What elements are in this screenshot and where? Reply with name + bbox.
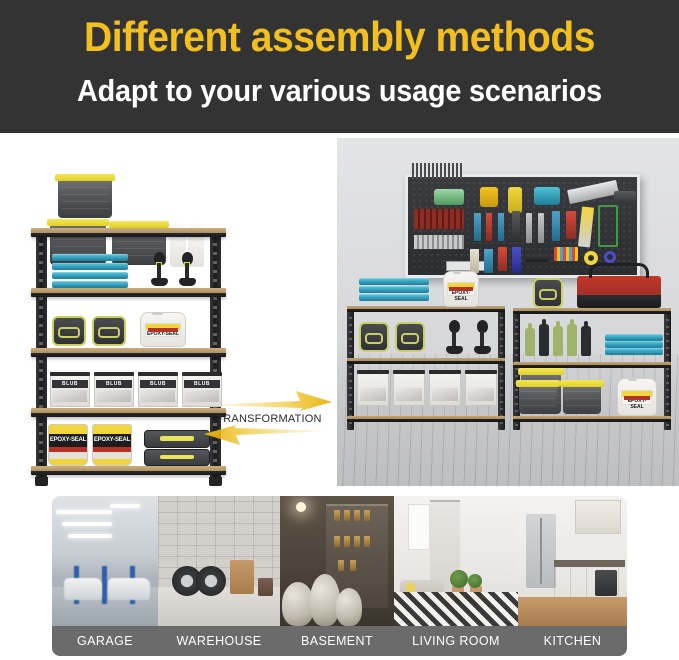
scenario-label-warehouse: WAREHOUSE [158, 634, 280, 648]
blue-tray [359, 278, 429, 285]
scenario-photos [52, 496, 627, 626]
epoxy-jug: EPOXY-SEAL [617, 378, 657, 416]
header-banner: Different assembly methods Adapt to your… [0, 0, 679, 133]
blue-tray [605, 341, 663, 348]
rack-shelf [31, 348, 226, 357]
tool-bag [577, 276, 661, 308]
rack-shelf [31, 228, 226, 237]
blue-tray-stack [359, 278, 429, 306]
bench-shelf [347, 416, 505, 422]
glue-gun [508, 187, 522, 213]
tool-caddy [359, 322, 389, 352]
blue-tray [52, 281, 128, 288]
blue-tray [359, 294, 429, 301]
paint-can [465, 372, 497, 406]
blue-tray-stack [52, 254, 128, 288]
clamp-tool [614, 191, 636, 203]
wrench [538, 213, 544, 243]
paint-can: BLUB [50, 374, 90, 407]
hanging-tool [176, 252, 198, 288]
tool-caddy [395, 322, 425, 352]
tool-bag-handle [589, 263, 650, 278]
jug-label: EPOXY-SEAL [145, 323, 182, 337]
wrench-row [414, 235, 464, 249]
bench-shelf [513, 308, 671, 314]
arrow-left-icon [204, 425, 332, 447]
socket-set-row [414, 209, 464, 229]
epoxy-bucket: EPOXY-SEAL [48, 424, 88, 466]
scenario-photo-living-room [394, 496, 518, 626]
blue-tray [605, 334, 663, 341]
can-label: BLUB [96, 380, 132, 388]
blue-tray [52, 254, 128, 261]
level-tool [526, 255, 548, 262]
blue-tray [52, 263, 128, 270]
bucket-brand: EPOXY-SEAL [49, 434, 87, 447]
utility-tool [512, 247, 521, 273]
rack-shelf [31, 408, 226, 417]
bench-shelf [347, 358, 505, 364]
pliers [474, 213, 481, 241]
page-subtitle: Adapt to your various usage scenarios [24, 72, 655, 110]
hacksaw [598, 205, 618, 247]
bench-post [347, 306, 354, 430]
right-product-image: EPOXY-SEAL [337, 138, 679, 486]
tape-roll [604, 251, 616, 263]
can-label: BLUB [140, 380, 176, 388]
screwdriver [486, 213, 492, 241]
epoxy-jug: EPOXY-SEAL [140, 312, 186, 347]
tool-caddy [533, 278, 563, 308]
paint-can [429, 372, 461, 406]
page-title: Different assembly methods [24, 13, 655, 61]
putty-knife [498, 247, 507, 271]
comparison-section: EPOXY-SEAL BLUB BLUB BLUB BLUB EPOXY-SEA… [0, 133, 679, 488]
rack-shelf [31, 288, 226, 297]
tool-caddy [92, 316, 126, 346]
arrow-right-icon [204, 389, 332, 411]
rack-foot [209, 477, 222, 486]
paint-brush [470, 249, 479, 273]
tool-caddy [52, 316, 86, 346]
power-drill [534, 187, 560, 205]
scenario-photo-warehouse [158, 496, 280, 626]
wrench [526, 213, 532, 243]
transformation-label: TRANSFORMATION [204, 413, 334, 425]
rack-foot [35, 477, 48, 486]
bench-shelf [347, 306, 505, 312]
hanging-tool [443, 320, 465, 354]
storage-tote [519, 386, 557, 414]
spray-bottle [539, 324, 549, 356]
jug-label: EPOXY-SEAL [447, 282, 476, 296]
can-label: BLUB [52, 380, 88, 388]
parts-organizer [446, 261, 488, 271]
paint-can [357, 372, 389, 406]
pruning-shears [566, 211, 576, 239]
scenario-label-basement: BASEMENT [280, 634, 394, 648]
bench-post [498, 306, 505, 430]
workbench-right: EPOXY-SEAL [513, 308, 671, 430]
cable-tie-set [554, 247, 578, 261]
scenario-photo-garage [52, 496, 158, 626]
scenario-label-bar: GARAGE WAREHOUSE BASEMENT LIVING ROOM KI… [52, 626, 627, 656]
paint-brush [484, 249, 493, 273]
hanging-tool [148, 252, 170, 288]
hanging-tool [471, 320, 493, 354]
blue-tray-stack [605, 334, 663, 356]
tool-box [144, 430, 210, 448]
storage-tote [58, 180, 112, 218]
spray-bottle [553, 326, 563, 356]
jug-brand: EPOXY-SEAL [146, 331, 181, 337]
blue-tray [605, 348, 663, 355]
spray-bottle [567, 324, 577, 356]
scenario-label-living-room: LIVING ROOM [394, 634, 518, 648]
scenario-label-kitchen: KITCHEN [518, 634, 627, 648]
garden-fork [552, 211, 560, 241]
screwdriver [498, 213, 504, 241]
blue-tray [52, 272, 128, 279]
scenario-strip: GARAGE WAREHOUSE BASEMENT LIVING ROOM KI… [52, 496, 627, 656]
scenario-photo-kitchen [518, 496, 627, 626]
hammer [512, 211, 520, 241]
scenario-label-garage: GARAGE [52, 634, 158, 648]
blue-tray [359, 286, 429, 293]
power-drill [480, 187, 498, 207]
workbench-left [347, 306, 505, 430]
spray-bottle [525, 328, 535, 356]
paint-can: BLUB [94, 374, 134, 407]
bench-shelf [513, 416, 671, 422]
jug-label: EPOXY-SEAL [621, 390, 653, 405]
epoxy-bucket: EPOXY-SEAL [92, 424, 132, 466]
spray-bottle [581, 326, 591, 356]
epoxy-jug: EPOXY-SEAL [443, 271, 479, 307]
storage-tote [563, 386, 601, 414]
power-drill [434, 189, 464, 205]
bench-post [664, 308, 671, 430]
tool-box [144, 449, 210, 466]
rack-shelf [31, 466, 226, 475]
paint-can [393, 372, 425, 406]
shelving-rack: EPOXY-SEAL BLUB BLUB BLUB BLUB EPOXY-SEA… [36, 228, 221, 478]
transformation-indicator: TRANSFORMATION [204, 385, 334, 447]
jug-brand: EPOXY-SEAL [448, 290, 475, 302]
scenario-photo-basement [280, 496, 394, 626]
drill-bit-row [412, 163, 464, 179]
bucket-brand: EPOXY-SEAL [93, 434, 131, 447]
paint-can: BLUB [138, 374, 178, 407]
